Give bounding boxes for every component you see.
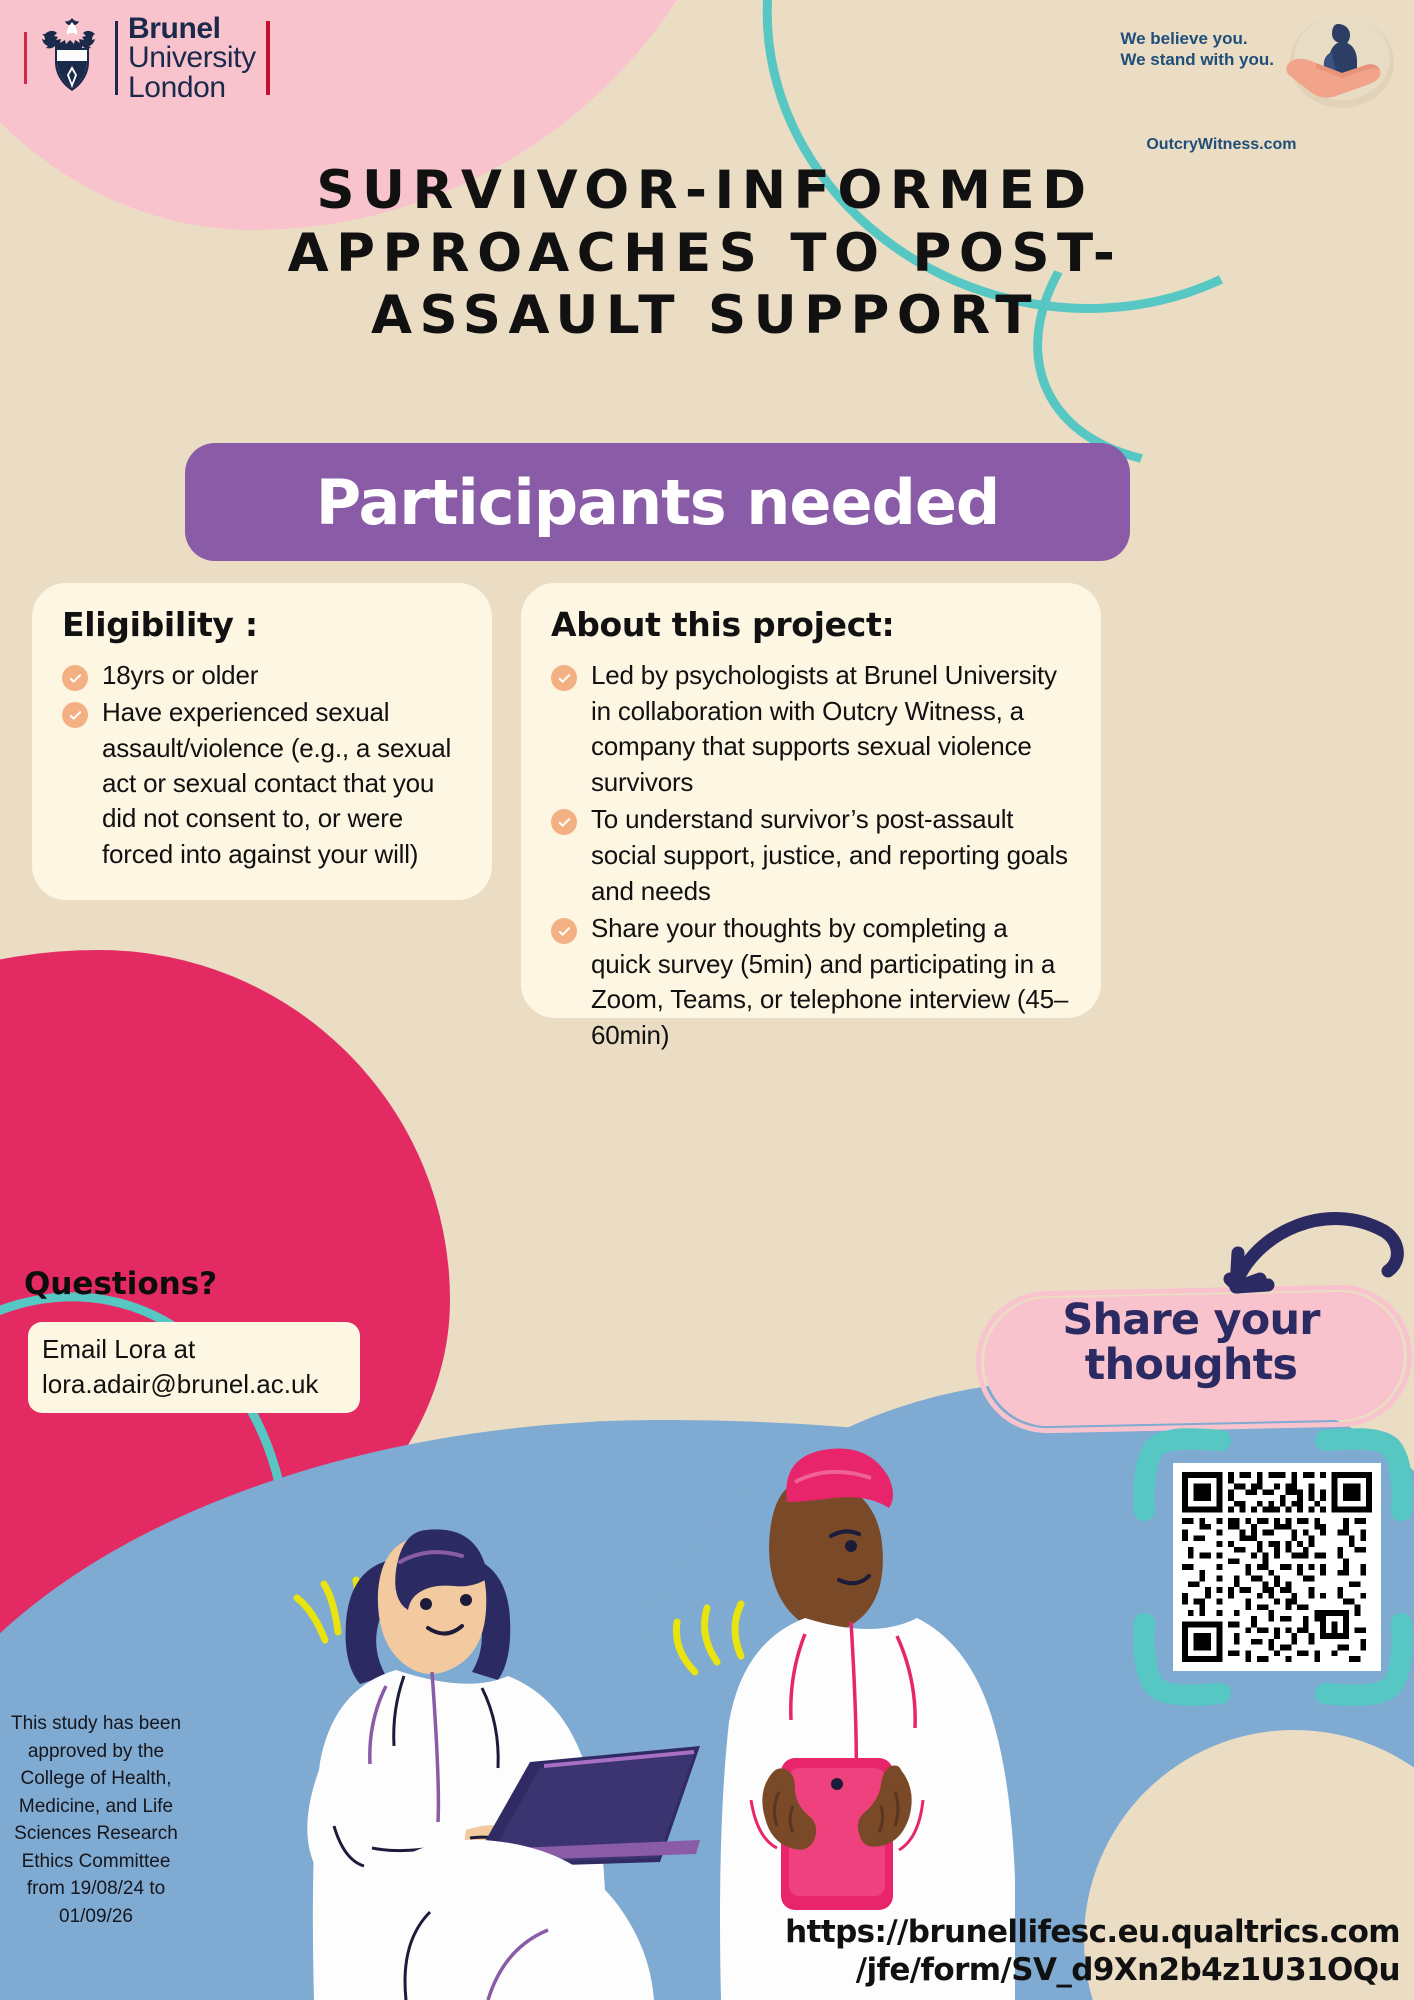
logo-left-rule bbox=[24, 32, 27, 84]
about-project-heading: About this project: bbox=[551, 605, 1073, 644]
contact-email-address[interactable]: lora.adair@brunel.ac.uk bbox=[42, 1367, 346, 1402]
outcry-website-url[interactable]: OutcryWitness.com bbox=[1146, 136, 1296, 154]
questions-heading: Questions? bbox=[24, 1266, 217, 1302]
qr-code-block[interactable] bbox=[1173, 1463, 1381, 1671]
logo-divider-rule bbox=[115, 21, 118, 95]
check-circle-icon bbox=[62, 665, 88, 691]
list-item: Share your thoughts by completing a quic… bbox=[551, 911, 1073, 1053]
about-project-item-text: To understand survivor’s post-assault so… bbox=[591, 802, 1073, 909]
eligibility-heading: Eligibility : bbox=[62, 605, 464, 644]
about-project-item-text: Share your thoughts by completing a quic… bbox=[591, 911, 1073, 1053]
check-circle-icon bbox=[551, 665, 577, 691]
qr-code-icon[interactable] bbox=[1173, 1463, 1381, 1671]
survey-url-line1: https://brunellifesc.eu.qualtrics.com bbox=[580, 1914, 1400, 1952]
poster-title: Survivor-informed approaches to post-ass… bbox=[200, 160, 1210, 348]
share-your-thoughts-heading: Share your thoughts bbox=[986, 1298, 1396, 1387]
list-item: 18yrs or older bbox=[62, 658, 464, 693]
eligibility-item-text: 18yrs or older bbox=[102, 658, 258, 693]
brunel-wordmark: Brunel University London bbox=[128, 14, 256, 102]
list-item: To understand survivor’s post-assault so… bbox=[551, 802, 1073, 909]
brunel-word-line3: London bbox=[128, 73, 256, 102]
about-project-list: Led by psychologists at Brunel Universit… bbox=[551, 658, 1073, 1054]
brunel-crest-icon bbox=[39, 16, 105, 100]
about-project-card: About this project: Led by psychologists… bbox=[521, 583, 1101, 1018]
list-item: Have experienced sexual assault/violence… bbox=[62, 695, 464, 872]
logo-right-rule bbox=[266, 21, 270, 95]
share-heading-line1: Share your bbox=[986, 1298, 1396, 1343]
eligibility-item-text: Have experienced sexual assault/violence… bbox=[102, 695, 464, 872]
contact-email-box[interactable]: Email Lora at lora.adair@brunel.ac.uk bbox=[28, 1322, 360, 1413]
check-circle-icon bbox=[551, 918, 577, 944]
curved-arrow-down-left-icon bbox=[1216, 1175, 1406, 1315]
outcry-tagline-line2: We stand with you. bbox=[1120, 49, 1274, 70]
contact-email-intro: Email Lora at bbox=[42, 1332, 346, 1367]
share-heading-line2: thoughts bbox=[986, 1343, 1396, 1388]
survey-url[interactable]: https://brunellifesc.eu.qualtrics.com /j… bbox=[580, 1914, 1400, 1990]
check-circle-icon bbox=[62, 702, 88, 728]
recruitment-poster: Brunel University London We believe you.… bbox=[0, 0, 1414, 2000]
brunel-word-line1: Brunel bbox=[128, 14, 256, 43]
ethics-approval-statement: This study has been approved by the Coll… bbox=[4, 1710, 188, 1930]
eligibility-list: 18yrs or older Have experienced sexual a… bbox=[62, 658, 464, 872]
list-item: Led by psychologists at Brunel Universit… bbox=[551, 658, 1073, 800]
about-project-item-text: Led by psychologists at Brunel Universit… bbox=[591, 658, 1073, 800]
outcry-tagline: We believe you. We stand with you. bbox=[1120, 10, 1274, 71]
brunel-university-logo: Brunel University London bbox=[24, 14, 270, 102]
check-circle-icon bbox=[551, 809, 577, 835]
survey-url-line2: /jfe/form/SV_d9Xn2b4z1U31OQu bbox=[580, 1952, 1400, 1990]
banner-label: Participants needed bbox=[316, 466, 1000, 539]
participants-needed-banner: Participants needed bbox=[185, 443, 1130, 561]
hand-holding-person-icon bbox=[1280, 10, 1400, 118]
outcry-witness-logo: We believe you. We stand with you. Outcr… bbox=[1120, 10, 1400, 154]
brunel-word-line2: University bbox=[128, 43, 256, 72]
outcry-tagline-line1: We believe you. bbox=[1120, 28, 1274, 49]
eligibility-card: Eligibility : 18yrs or older Have experi… bbox=[32, 583, 492, 900]
